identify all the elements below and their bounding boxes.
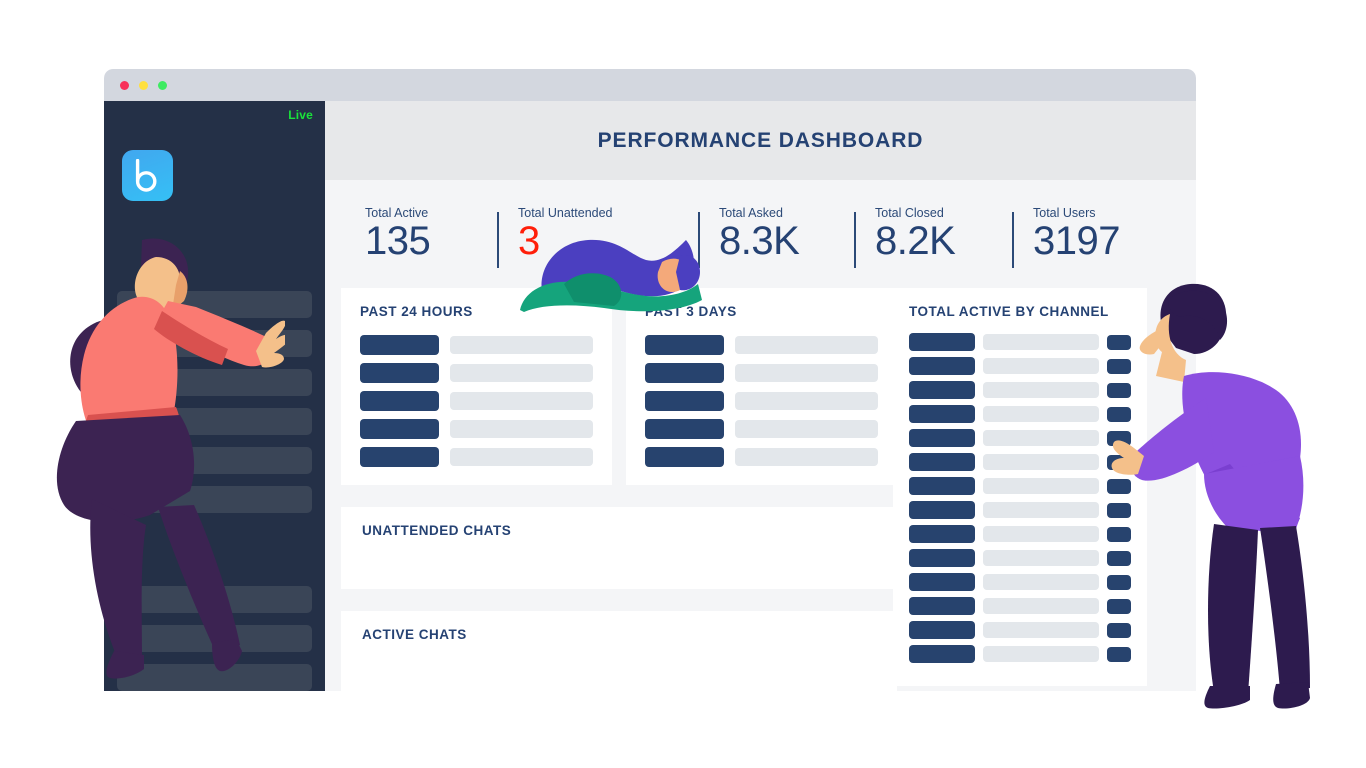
bar-row-value-chip [1107, 359, 1131, 374]
bar-row-value-chip [1107, 503, 1131, 518]
panels-area: PAST 24 HOURS PAST 3 DAYS TOTAL ACTIVE B… [325, 288, 1196, 691]
bar-row-label-chip [360, 447, 439, 467]
kpi-value: 135 [365, 221, 481, 262]
bar-row-value-chip [1107, 599, 1131, 614]
bar-track [450, 448, 593, 466]
panel-title: UNATTENDED CHATS [362, 523, 876, 538]
bar-row-value-chip [1107, 407, 1131, 422]
page-title: PERFORMANCE DASHBOARD [598, 129, 924, 153]
bar-row-label-chip [909, 597, 975, 615]
kpi-total-asked[interactable]: Total Asked 8.3K [698, 206, 838, 262]
bar-row [909, 333, 1131, 351]
bar-track [983, 526, 1099, 542]
top-panel-row: PAST 24 HOURS PAST 3 DAYS TOTAL ACTIVE B… [341, 288, 1180, 485]
close-window-icon[interactable] [120, 81, 129, 90]
bar-track [983, 550, 1099, 566]
bar-row-label-chip [909, 405, 975, 423]
bar-row [909, 621, 1131, 639]
bar-row-label-chip [645, 335, 724, 355]
bar-track [735, 420, 878, 438]
bar-row-value-chip [1107, 527, 1131, 542]
kpi-value: 8.3K [719, 221, 838, 262]
bar-track [735, 336, 878, 354]
kpi-label: Total Active [365, 206, 481, 220]
sidebar-item-3[interactable] [117, 369, 312, 396]
screenshot-root: Live [0, 0, 1366, 768]
sidebar-item-4[interactable] [117, 408, 312, 435]
maximize-window-icon[interactable] [158, 81, 167, 90]
bar-track [735, 364, 878, 382]
panel-past-3-days: PAST 3 DAYS [626, 288, 897, 485]
main-content: PERFORMANCE DASHBOARD Total Active 135 T… [325, 101, 1196, 691]
bar-row-value-chip [1107, 575, 1131, 590]
window-titlebar[interactable] [104, 69, 1196, 101]
bar-track [983, 574, 1099, 590]
kpi-total-closed[interactable]: Total Closed 8.2K [854, 206, 996, 262]
bar-row-value-chip [1107, 551, 1131, 566]
bar-chart-past-24-hours [360, 335, 593, 467]
bar-row-label-chip [360, 419, 439, 439]
kpi-total-unattended[interactable]: Total Unattended 3 [497, 206, 682, 262]
bar-row-label-chip [360, 363, 439, 383]
bar-row-label-chip [360, 391, 439, 411]
bar-row [909, 645, 1131, 663]
bar-track [450, 336, 593, 354]
bar-row-label-chip [909, 525, 975, 543]
sidebar-item-8[interactable] [117, 625, 312, 652]
bar-row-value-chip [1107, 623, 1131, 638]
bar-row-label-chip [645, 447, 724, 467]
sidebar-item-2[interactable] [117, 330, 312, 357]
bar-row [909, 549, 1131, 567]
live-status-badge: Live [288, 108, 313, 122]
sidebar-item-5[interactable] [117, 447, 312, 474]
bar-track [450, 364, 593, 382]
bar-track [735, 392, 878, 410]
panel-total-active-by-channel: TOTAL ACTIVE BY CHANNEL [893, 288, 1147, 686]
bar-row-label-chip [909, 477, 975, 495]
bar-row-label-chip [360, 335, 439, 355]
bar-row-value-chip [1107, 335, 1131, 350]
bar-track [983, 622, 1099, 638]
bar-row [909, 405, 1131, 423]
sidebar: Live [104, 101, 325, 691]
bar-row [360, 363, 593, 383]
minimize-window-icon[interactable] [139, 81, 148, 90]
panel-title: PAST 24 HOURS [360, 304, 593, 319]
panel-title: PAST 3 DAYS [645, 304, 878, 319]
bar-track [735, 448, 878, 466]
bar-row [360, 335, 593, 355]
bar-row-value-chip [1107, 383, 1131, 398]
bar-row-label-chip [909, 333, 975, 351]
bar-track [983, 382, 1099, 398]
bar-row [360, 447, 593, 467]
bar-row [909, 525, 1131, 543]
bar-row [909, 357, 1131, 375]
bar-row-label-chip [909, 453, 975, 471]
bar-row [909, 453, 1131, 471]
kpi-value: 8.2K [875, 221, 996, 262]
bar-track [983, 430, 1099, 446]
bar-track [983, 646, 1099, 662]
sidebar-nav-secondary [117, 586, 312, 691]
kpi-label: Total Asked [719, 206, 838, 220]
panel-title: TOTAL ACTIVE BY CHANNEL [909, 304, 1131, 319]
browser-window: Live [104, 69, 1196, 691]
kpi-total-active[interactable]: Total Active 135 [365, 206, 481, 262]
bar-row-label-chip [909, 357, 975, 375]
sidebar-nav-primary [117, 291, 312, 525]
bar-row [645, 391, 878, 411]
sidebar-item-1[interactable] [117, 291, 312, 318]
kpi-total-users[interactable]: Total Users 3197 [1012, 206, 1142, 262]
bar-row-label-chip [909, 645, 975, 663]
kpi-label: Total Closed [875, 206, 996, 220]
bar-row-label-chip [645, 391, 724, 411]
panel-title: ACTIVE CHATS [362, 627, 876, 642]
bar-row [360, 419, 593, 439]
bar-track [983, 478, 1099, 494]
bar-track [983, 454, 1099, 470]
bar-track [983, 334, 1099, 350]
page-header: PERFORMANCE DASHBOARD [325, 101, 1196, 180]
traffic-lights [120, 81, 167, 90]
bar-row-value-chip [1107, 431, 1131, 446]
sidebar-item-9[interactable] [117, 664, 312, 691]
bar-track [450, 392, 593, 410]
logo-b-glyph [133, 159, 163, 193]
bar-row-label-chip [645, 363, 724, 383]
kpi-value: 3197 [1033, 221, 1142, 262]
bar-row [645, 363, 878, 383]
bar-track [983, 406, 1099, 422]
bar-row [909, 381, 1131, 399]
kpi-strip: Total Active 135 Total Unattended 3 Tota… [325, 180, 1196, 288]
app-logo[interactable] [122, 150, 173, 201]
bar-track [983, 502, 1099, 518]
bar-row [909, 429, 1131, 447]
bar-row-label-chip [909, 429, 975, 447]
kpi-label: Total Unattended [518, 206, 682, 220]
bar-row [360, 391, 593, 411]
bar-row-label-chip [909, 573, 975, 591]
bar-row [645, 335, 878, 355]
bar-row-label-chip [645, 419, 724, 439]
bar-row-value-chip [1107, 479, 1131, 494]
bar-row [645, 447, 878, 467]
bar-row-label-chip [909, 501, 975, 519]
bar-track [450, 420, 593, 438]
bar-row-label-chip [909, 621, 975, 639]
bar-row [909, 597, 1131, 615]
bar-row-label-chip [909, 381, 975, 399]
bar-track [983, 358, 1099, 374]
kpi-value: 3 [518, 221, 682, 262]
bar-row [909, 501, 1131, 519]
panel-unattended-chats: UNATTENDED CHATS [341, 507, 897, 589]
bar-chart-past-3-days [645, 335, 878, 467]
panel-active-chats: ACTIVE CHATS [341, 611, 897, 691]
sidebar-item-6[interactable] [117, 486, 312, 513]
bar-track [983, 598, 1099, 614]
bar-chart-by-channel [909, 333, 1131, 663]
kpi-label: Total Users [1033, 206, 1142, 220]
sidebar-item-7[interactable] [117, 586, 312, 613]
bar-row-label-chip [909, 549, 975, 567]
bar-row [645, 419, 878, 439]
panel-past-24-hours: PAST 24 HOURS [341, 288, 612, 485]
bar-row [909, 573, 1131, 591]
bar-row [909, 477, 1131, 495]
bar-row-value-chip [1107, 455, 1131, 470]
bar-row-value-chip [1107, 647, 1131, 662]
